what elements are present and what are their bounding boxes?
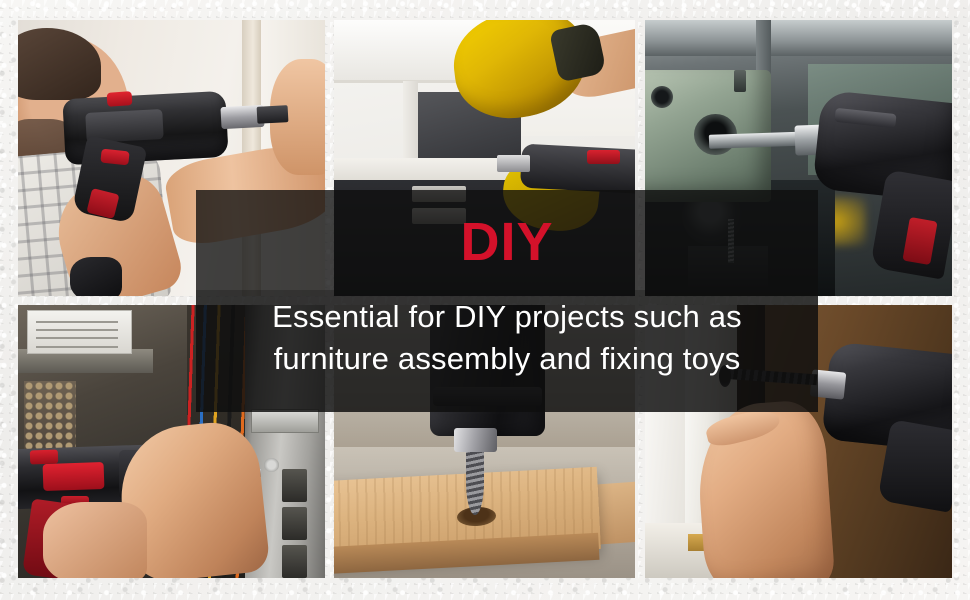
subtitle-line-1: Essential for DIY projects such as [196,296,818,338]
subtitle-line-2: furniture assembly and fixing toys [196,338,818,380]
subtitle-text: Essential for DIY projects such as furni… [196,296,818,380]
headline-diy: DIY [196,214,818,270]
diy-product-banner: DIY Essential for DIY projects such as f… [0,0,970,600]
